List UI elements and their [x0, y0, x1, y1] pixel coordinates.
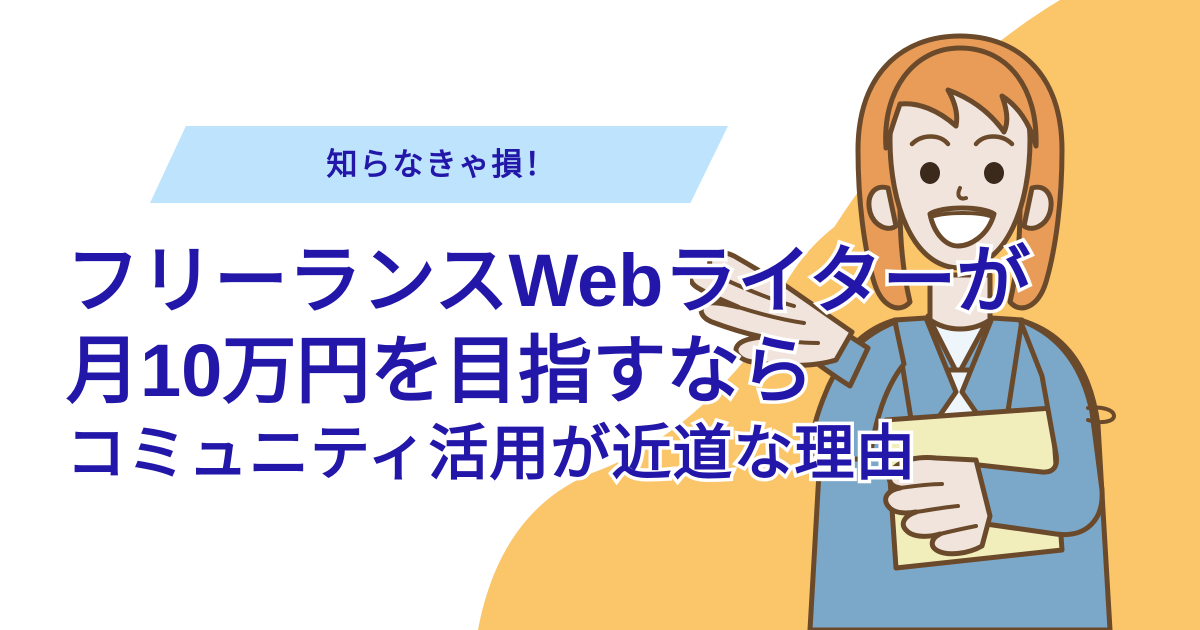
badge-ribbon-label: 知らなきゃ損！ [321, 149, 558, 180]
headline-line-1: フリーランスWebライターが [66, 244, 1126, 318]
headline-block: フリーランスWebライターが 月10万円を目指すなら コミュニティ活用が近道な理… [66, 244, 1126, 484]
badge-ribbon: 知らなきゃ損！ [150, 126, 728, 203]
headline-line-3: コミュニティ活用が近道な理由 [66, 424, 1126, 484]
headline-line-2: 月10万円を目指すなら [66, 334, 1126, 408]
eyecatch-canvas: 知らなきゃ損！ フリーランスWebライターが 月10万円を目指すなら コミュニテ… [0, 0, 1200, 630]
